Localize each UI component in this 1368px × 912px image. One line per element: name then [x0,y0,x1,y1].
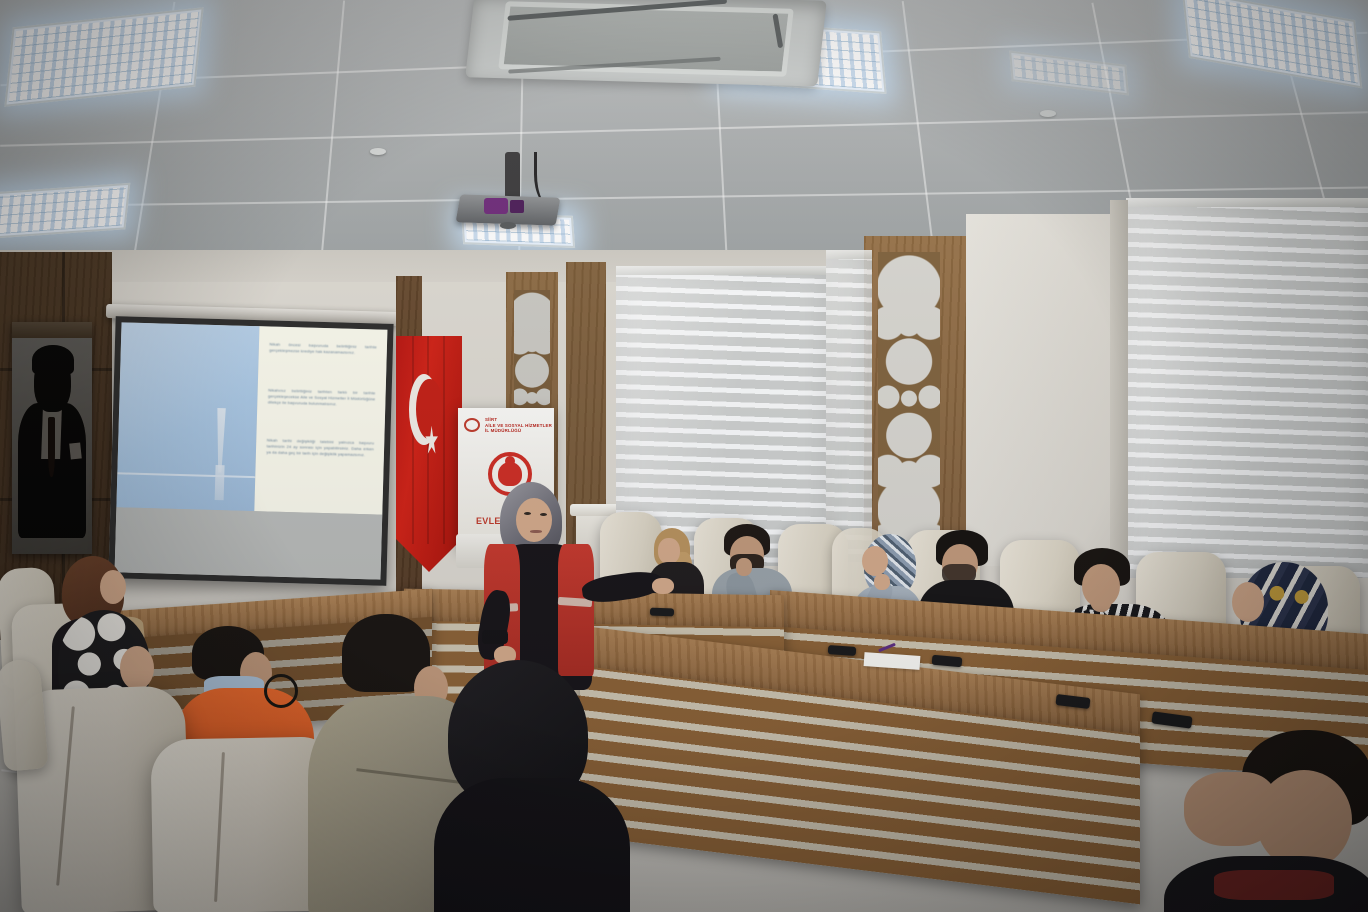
person-face [862,546,888,576]
person-face [120,646,154,690]
banner-org-line-3: İL MÜDÜRLÜĞÜ [485,428,521,434]
projector-foot [500,222,516,229]
slide-text-area: Nikah öncesi başvuruda belirttiğiniz tar… [255,326,388,514]
phone-1[interactable] [828,645,857,656]
slide-photo-area [116,322,259,511]
flag-crescent-icon [409,374,439,445]
presentation-remote-icon[interactable] [482,630,508,644]
person-glasses-icon [264,674,298,708]
air-conditioner-unit [465,0,827,86]
presenter-eye-l [524,512,531,515]
presenter-face [516,498,552,542]
banner-emblem-figure [505,456,515,466]
person-collar [1214,870,1334,900]
slide-paragraph-1: Nikah öncesi başvuruda belirttiğiniz tar… [269,341,377,356]
person-hand [874,574,890,590]
person-hand [1184,772,1276,846]
person-torso [434,778,630,912]
presenter-hand-right [652,578,674,594]
projector-lens-icon [484,198,508,214]
person-hand [1090,586,1112,612]
conference-room-photo: Nikah öncesi başvuruda belirttiğiniz tar… [0,0,1368,912]
slide-vase-stem [215,465,224,500]
projection-screen: Nikah öncesi başvuruda belirttiğiniz tar… [108,316,393,586]
ataturk-portrait [12,322,92,554]
person-face [100,570,126,604]
projector-icon [456,194,561,225]
slide-lower-band [115,507,383,579]
projector-lens-ring [510,200,524,213]
slide-paragraph-3: Nikah tarihi değişikliği talebini yalnız… [266,437,374,459]
window-wall-return [966,214,1128,566]
window-blind-center[interactable] [826,250,872,562]
slide-paragraph-2: Nikahınız belirttiğiniz tarihten farklı … [268,388,376,410]
presentation-slide: Nikah öncesi başvuruda belirttiğiniz tar… [115,322,388,579]
person-face [658,538,680,564]
portrait-rail [12,322,92,338]
portrait-tie [48,417,55,477]
presenter-vest-right [558,544,594,676]
person-face [1232,582,1264,622]
smoke-detector-icon-2 [1040,110,1056,117]
lattice-panel-large [878,252,940,548]
phone-5[interactable] [650,608,674,617]
presenter-mouth [530,530,542,533]
presenter-eye-r [540,513,547,516]
portrait-pocket [69,442,82,459]
lattice-frame-large [864,236,966,566]
window-reveal-edge [1110,200,1128,574]
turkish-flag [396,336,462,572]
projector-mount-pole [505,152,520,202]
portrait-hair [32,345,74,375]
smoke-detector-icon [370,148,386,155]
ministry-logo-icon [464,418,480,432]
person-hand [736,558,752,576]
window-blind-right[interactable] [1126,198,1368,578]
